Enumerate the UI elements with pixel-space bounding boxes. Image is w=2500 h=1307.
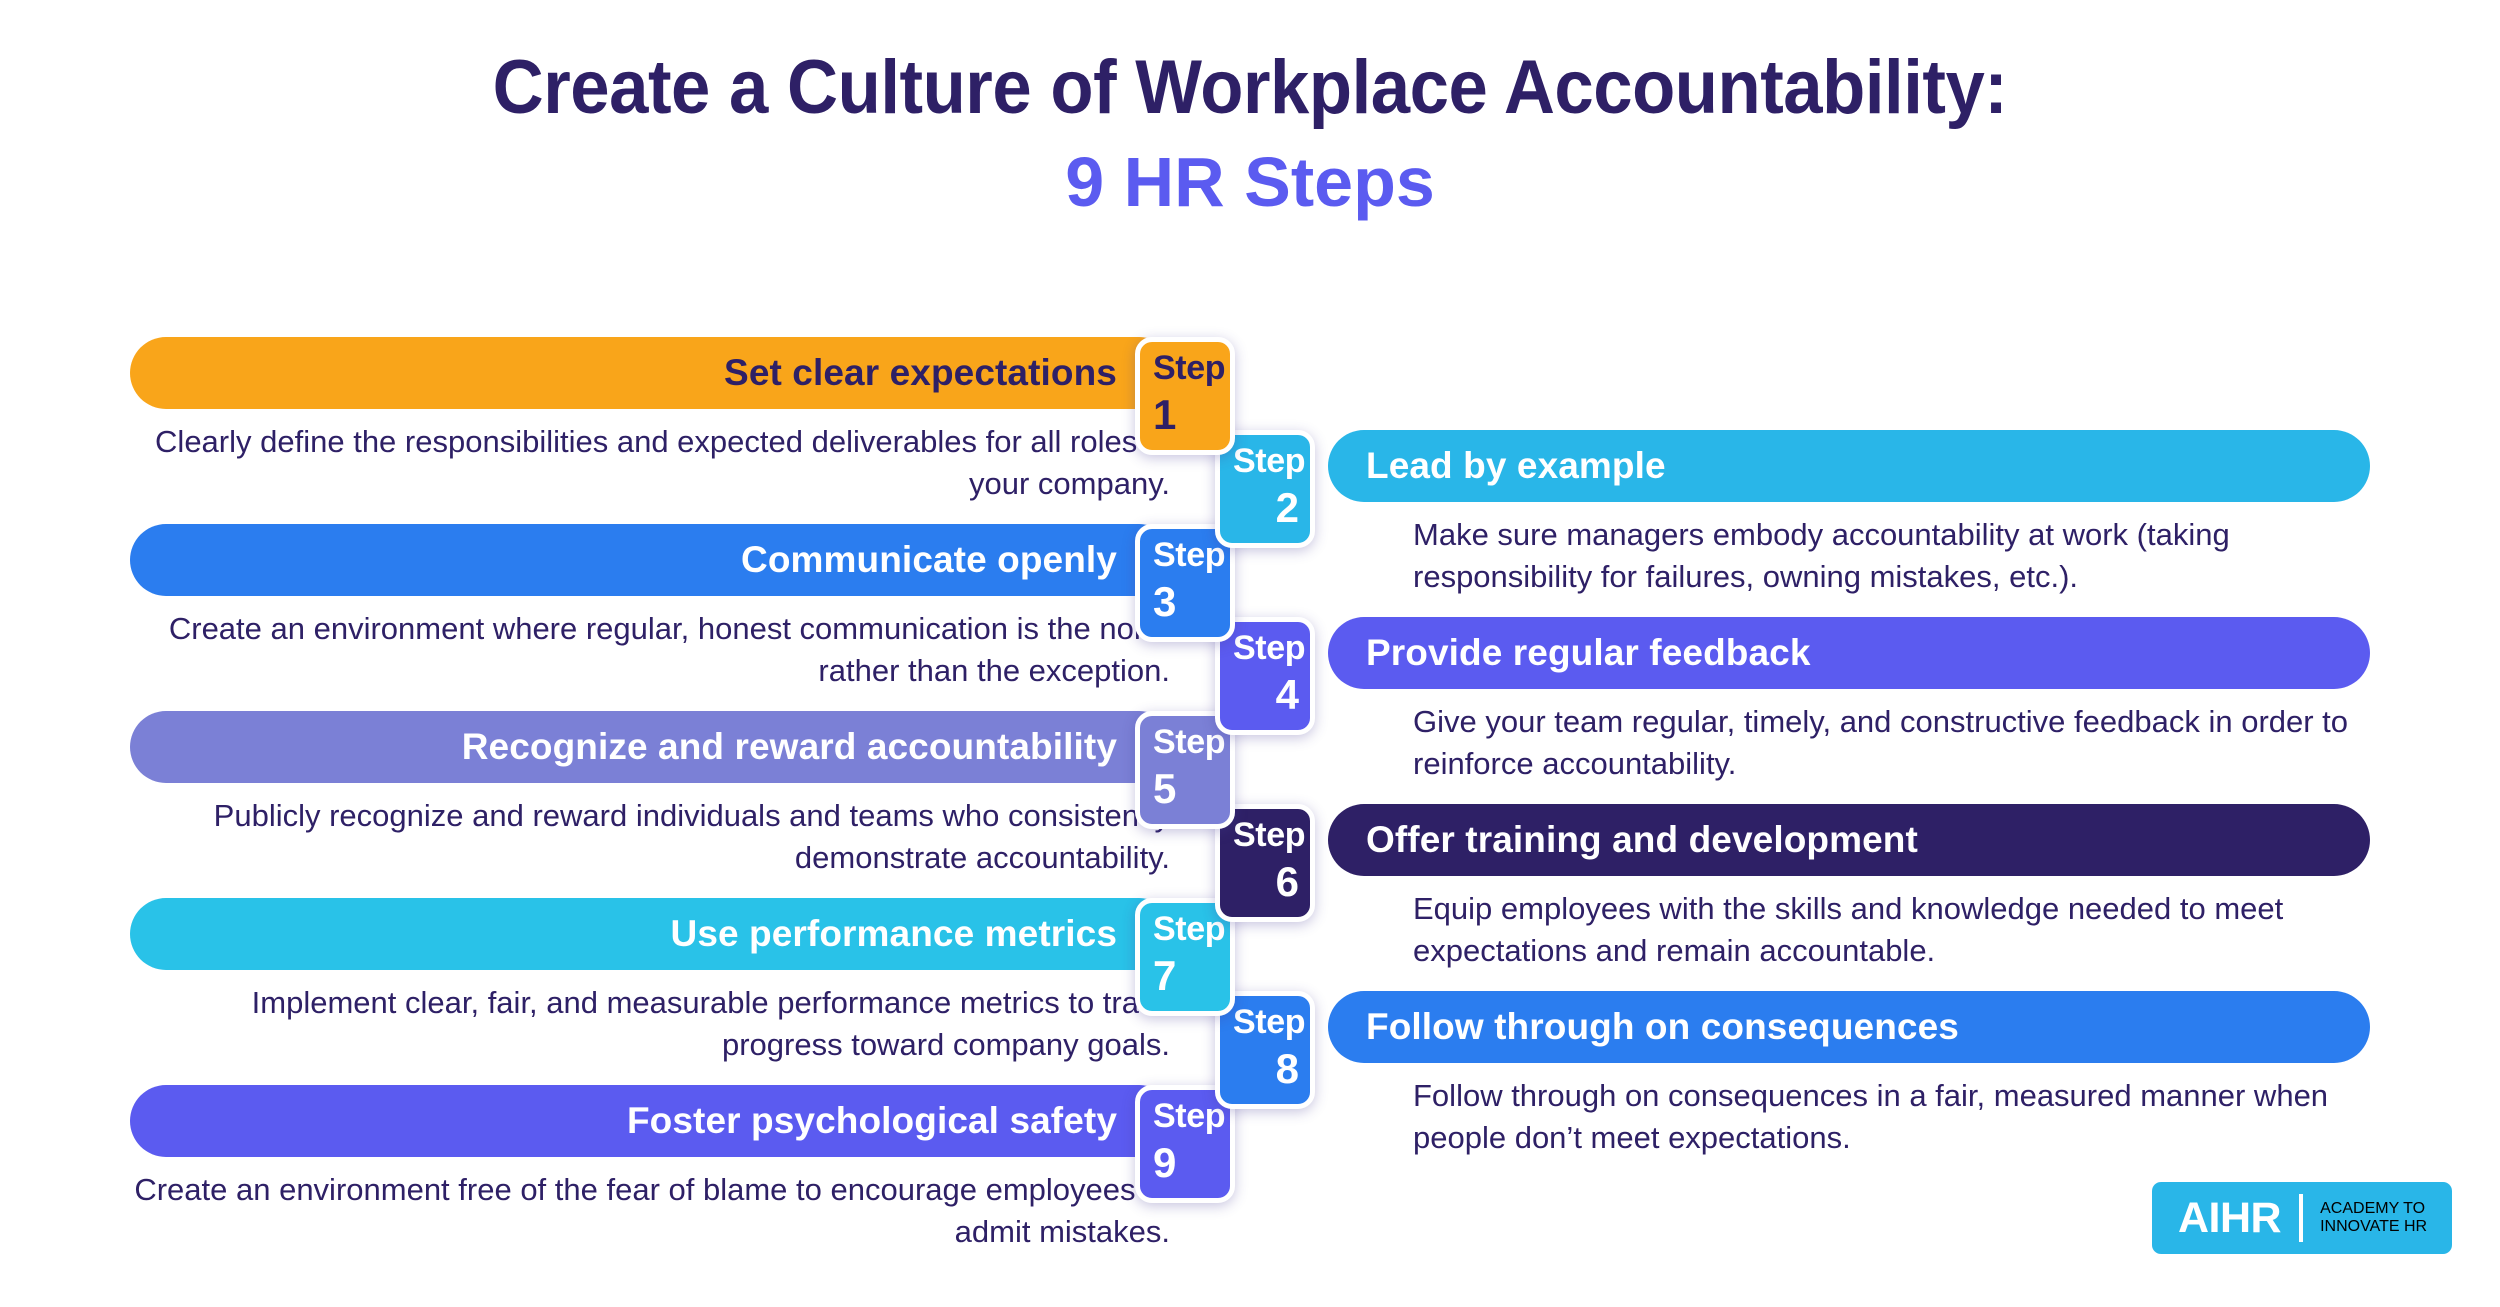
step-description-8: Follow through on consequences in a fair… (1413, 1075, 2413, 1159)
step-badge-number-7: 7 (1153, 955, 1219, 997)
step-title-3: Communicate openly (741, 539, 1117, 581)
step-badge-label-6: Step (1233, 818, 1299, 852)
steps-ladder: Set clear expectationsClearly define the… (0, 0, 2500, 1307)
step-description-2: Make sure managers embody accountability… (1413, 514, 2413, 598)
aihr-logo: AIHR ACADEMY TO INNOVATE HR (2152, 1182, 2452, 1254)
step-badge-number-2: 2 (1233, 487, 1299, 529)
step-title-1: Set clear expectations (724, 352, 1117, 394)
step-badge-number-5: 5 (1153, 768, 1219, 810)
step-badge-label-9: Step (1153, 1099, 1219, 1133)
logo-divider (2299, 1194, 2303, 1242)
step-bar-8[interactable]: Follow through on consequences (1328, 991, 2370, 1063)
step-description-6: Equip employees with the skills and know… (1413, 888, 2413, 972)
step-badge-label-4: Step (1233, 631, 1299, 665)
logo-tagline: ACADEMY TO INNOVATE HR (2320, 1200, 2427, 1236)
step-bar-4[interactable]: Provide regular feedback (1328, 617, 2370, 689)
step-bar-1[interactable]: Set clear expectations (130, 337, 1175, 409)
step-badge-label-7: Step (1153, 912, 1219, 946)
step-title-6: Offer training and development (1366, 819, 1918, 861)
step-bar-9[interactable]: Foster psychological safety (130, 1085, 1175, 1157)
step-bar-6[interactable]: Offer training and development (1328, 804, 2370, 876)
step-badge-number-8: 8 (1233, 1048, 1299, 1090)
step-badge-1[interactable]: Step1 (1135, 337, 1235, 455)
step-bar-7[interactable]: Use performance metrics (130, 898, 1175, 970)
step-badge-number-6: 6 (1233, 861, 1299, 903)
logo-tagline-line-2: INNOVATE HR (2320, 1218, 2427, 1236)
step-description-4: Give your team regular, timely, and cons… (1413, 701, 2413, 785)
step-badge-number-4: 4 (1233, 674, 1299, 716)
step-description-5: Publicly recognize and reward individual… (130, 795, 1170, 879)
step-badge-number-3: 3 (1153, 581, 1219, 623)
step-badge-label-5: Step (1153, 725, 1219, 759)
step-title-7: Use performance metrics (671, 913, 1118, 955)
step-badge-label-2: Step (1233, 444, 1299, 478)
logo-wordmark: AIHR (2178, 1197, 2281, 1240)
step-badge-label-8: Step (1233, 1005, 1299, 1039)
step-title-4: Provide regular feedback (1366, 632, 1811, 674)
step-description-9: Create an environment free of the fear o… (130, 1169, 1170, 1253)
step-bar-2[interactable]: Lead by example (1328, 430, 2370, 502)
step-badge-label-1: Step (1153, 351, 1219, 385)
step-description-1: Clearly define the responsibilities and … (130, 421, 1170, 505)
step-badge-number-1: 1 (1153, 394, 1219, 436)
step-badge-number-9: 9 (1153, 1142, 1219, 1184)
step-bar-3[interactable]: Communicate openly (130, 524, 1175, 596)
step-description-7: Implement clear, fair, and measurable pe… (130, 982, 1170, 1066)
step-title-9: Foster psychological safety (627, 1100, 1117, 1142)
step-description-3: Create an environment where regular, hon… (130, 608, 1170, 692)
step-bar-5[interactable]: Recognize and reward accountability (130, 711, 1175, 783)
step-title-2: Lead by example (1366, 445, 1666, 487)
logo-tagline-line-1: ACADEMY TO (2320, 1200, 2427, 1218)
step-badge-label-3: Step (1153, 538, 1219, 572)
step-title-8: Follow through on consequences (1366, 1006, 1959, 1048)
step-title-5: Recognize and reward accountability (462, 726, 1117, 768)
